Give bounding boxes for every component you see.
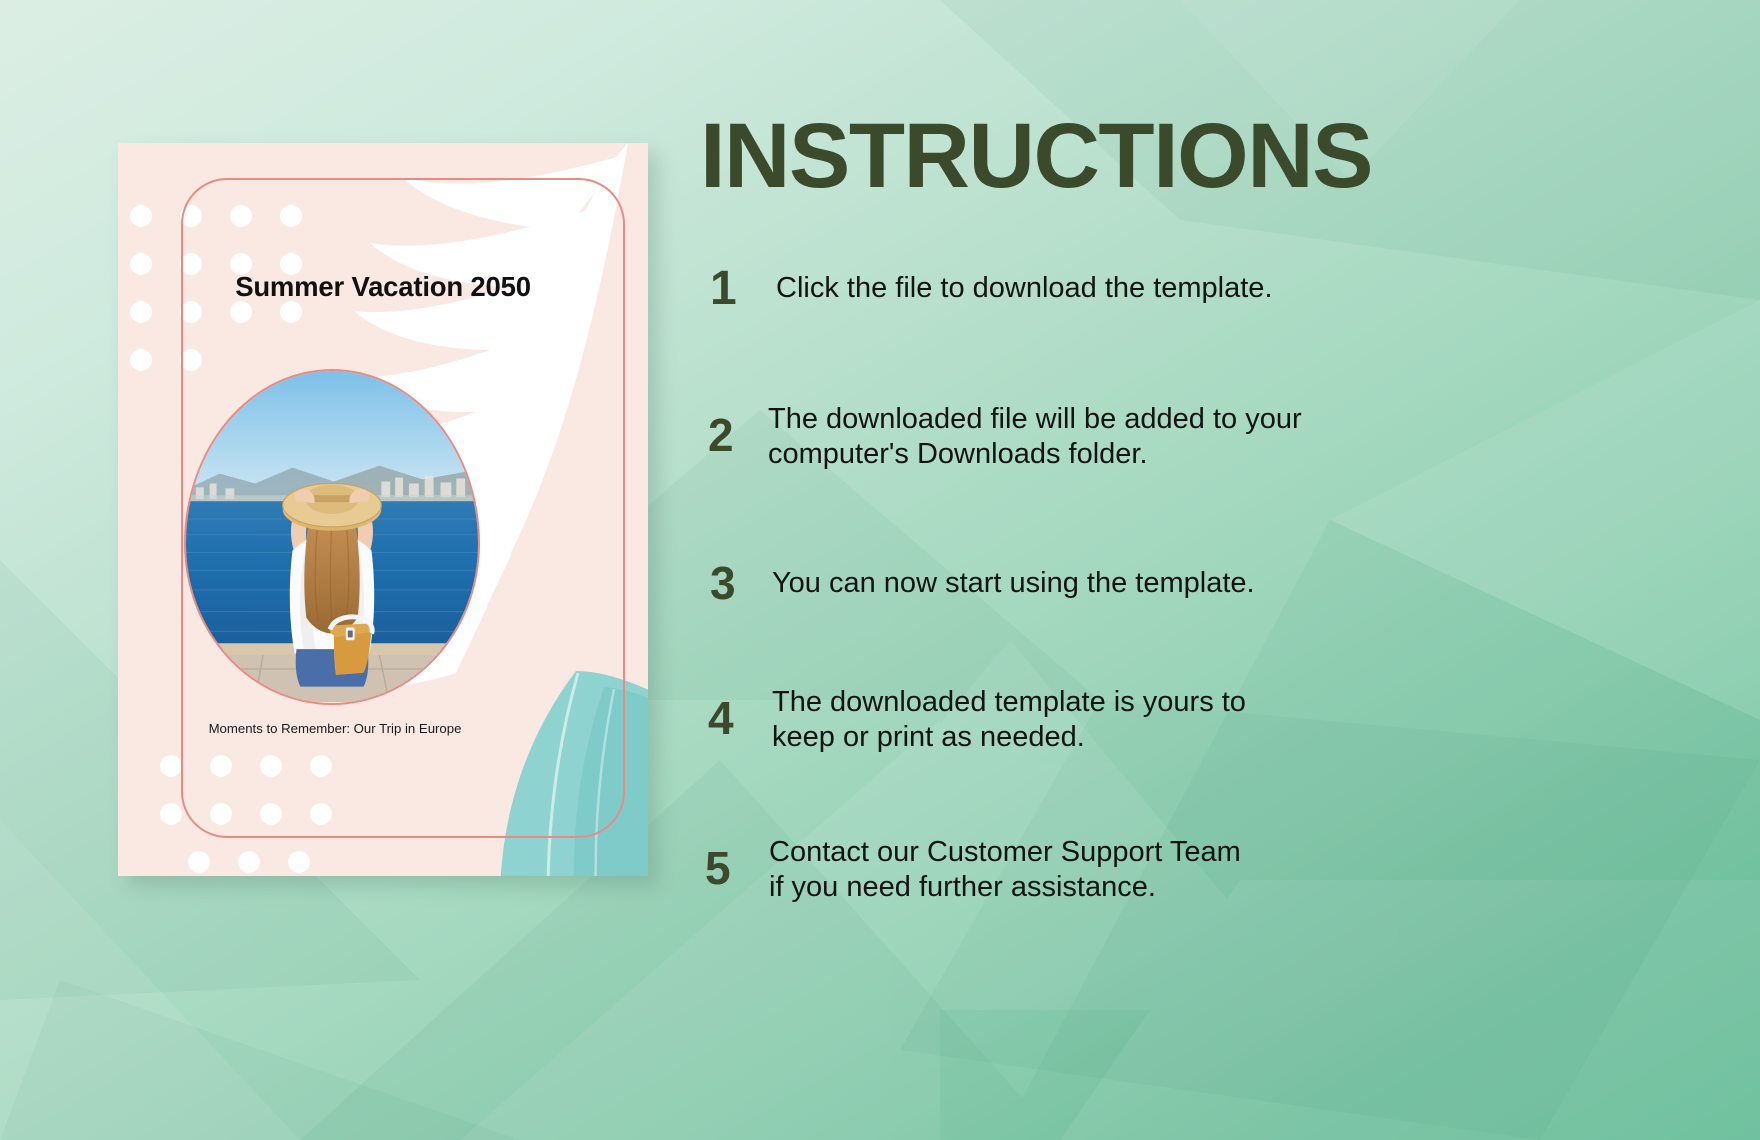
step-text-3: You can now start using the template. [762, 560, 1255, 601]
instruction-step-2: 2 The downloaded file will be added to y… [708, 400, 1302, 473]
dot-pattern-bottom [160, 755, 390, 876]
card-photo-frame [184, 369, 480, 705]
card-caption: Moments to Remember: Our Trip in Europe [180, 721, 490, 736]
step-text-4: The downloaded template is yours to keep… [760, 683, 1246, 756]
card-title: Summer Vacation 2050 [118, 271, 648, 303]
step-text-2: The downloaded file will be added to you… [760, 400, 1302, 473]
instruction-step-1: 1 Click the file to download the templat… [710, 265, 1273, 313]
instructions-panel: INSTRUCTIONS 1 Click the file to downloa… [700, 110, 1690, 1040]
instructions-title: INSTRUCTIONS [700, 110, 1690, 202]
instruction-step-3: 3 You can now start using the template. [710, 560, 1255, 606]
step-number-2: 2 [708, 400, 760, 458]
step-text-1: Click the file to download the template. [762, 265, 1273, 306]
vacation-photo [186, 371, 478, 702]
card-surface: Summer Vacation 2050 [118, 143, 648, 876]
step-number-3: 3 [710, 560, 762, 606]
step-number-5: 5 [705, 833, 757, 891]
template-preview-card[interactable]: Summer Vacation 2050 [118, 143, 648, 876]
step-text-5: Contact our Customer Support Team if you… [757, 833, 1241, 906]
instruction-step-5: 5 Contact our Customer Support Team if y… [705, 833, 1241, 906]
step-number-1: 1 [710, 265, 762, 313]
instruction-step-4: 4 The downloaded template is yours to ke… [708, 683, 1246, 756]
step-number-4: 4 [708, 683, 760, 741]
